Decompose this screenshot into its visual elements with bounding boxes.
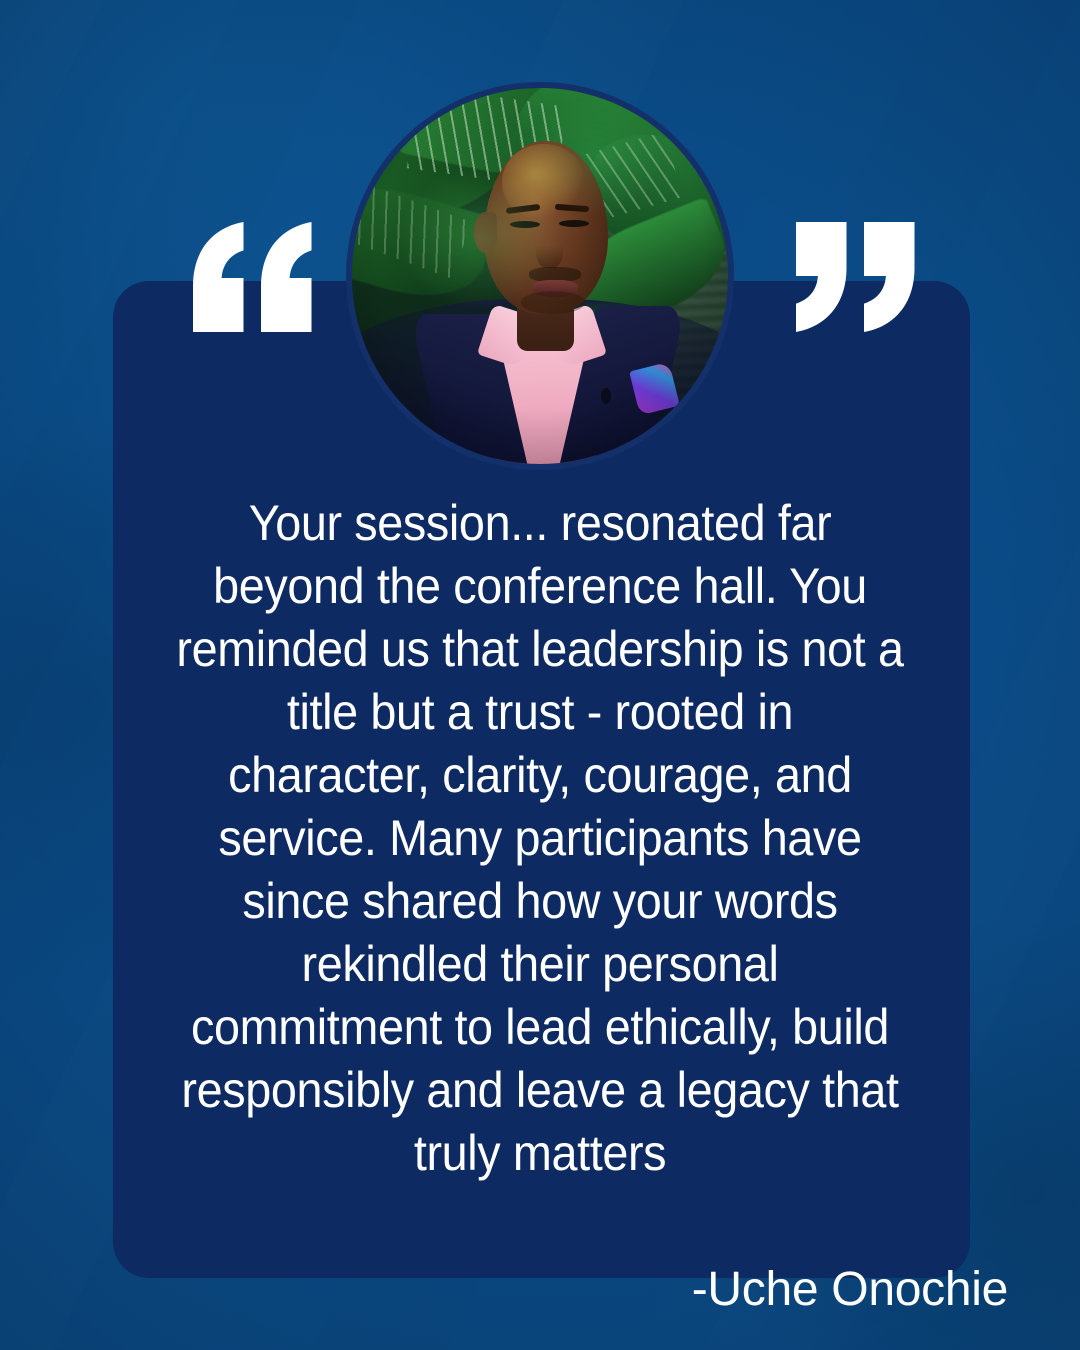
photo-vignette xyxy=(352,88,728,464)
quote-attribution: -Uche Onochie xyxy=(692,1262,1008,1318)
avatar xyxy=(352,88,728,464)
close-quote-icon xyxy=(793,222,915,332)
avatar-photo xyxy=(352,88,728,464)
testimonial-card-canvas: Your session... resonated far beyond the… xyxy=(0,0,1080,1350)
open-quote-icon xyxy=(193,222,315,332)
quote-text: Your session... resonated far beyond the… xyxy=(161,492,918,1185)
